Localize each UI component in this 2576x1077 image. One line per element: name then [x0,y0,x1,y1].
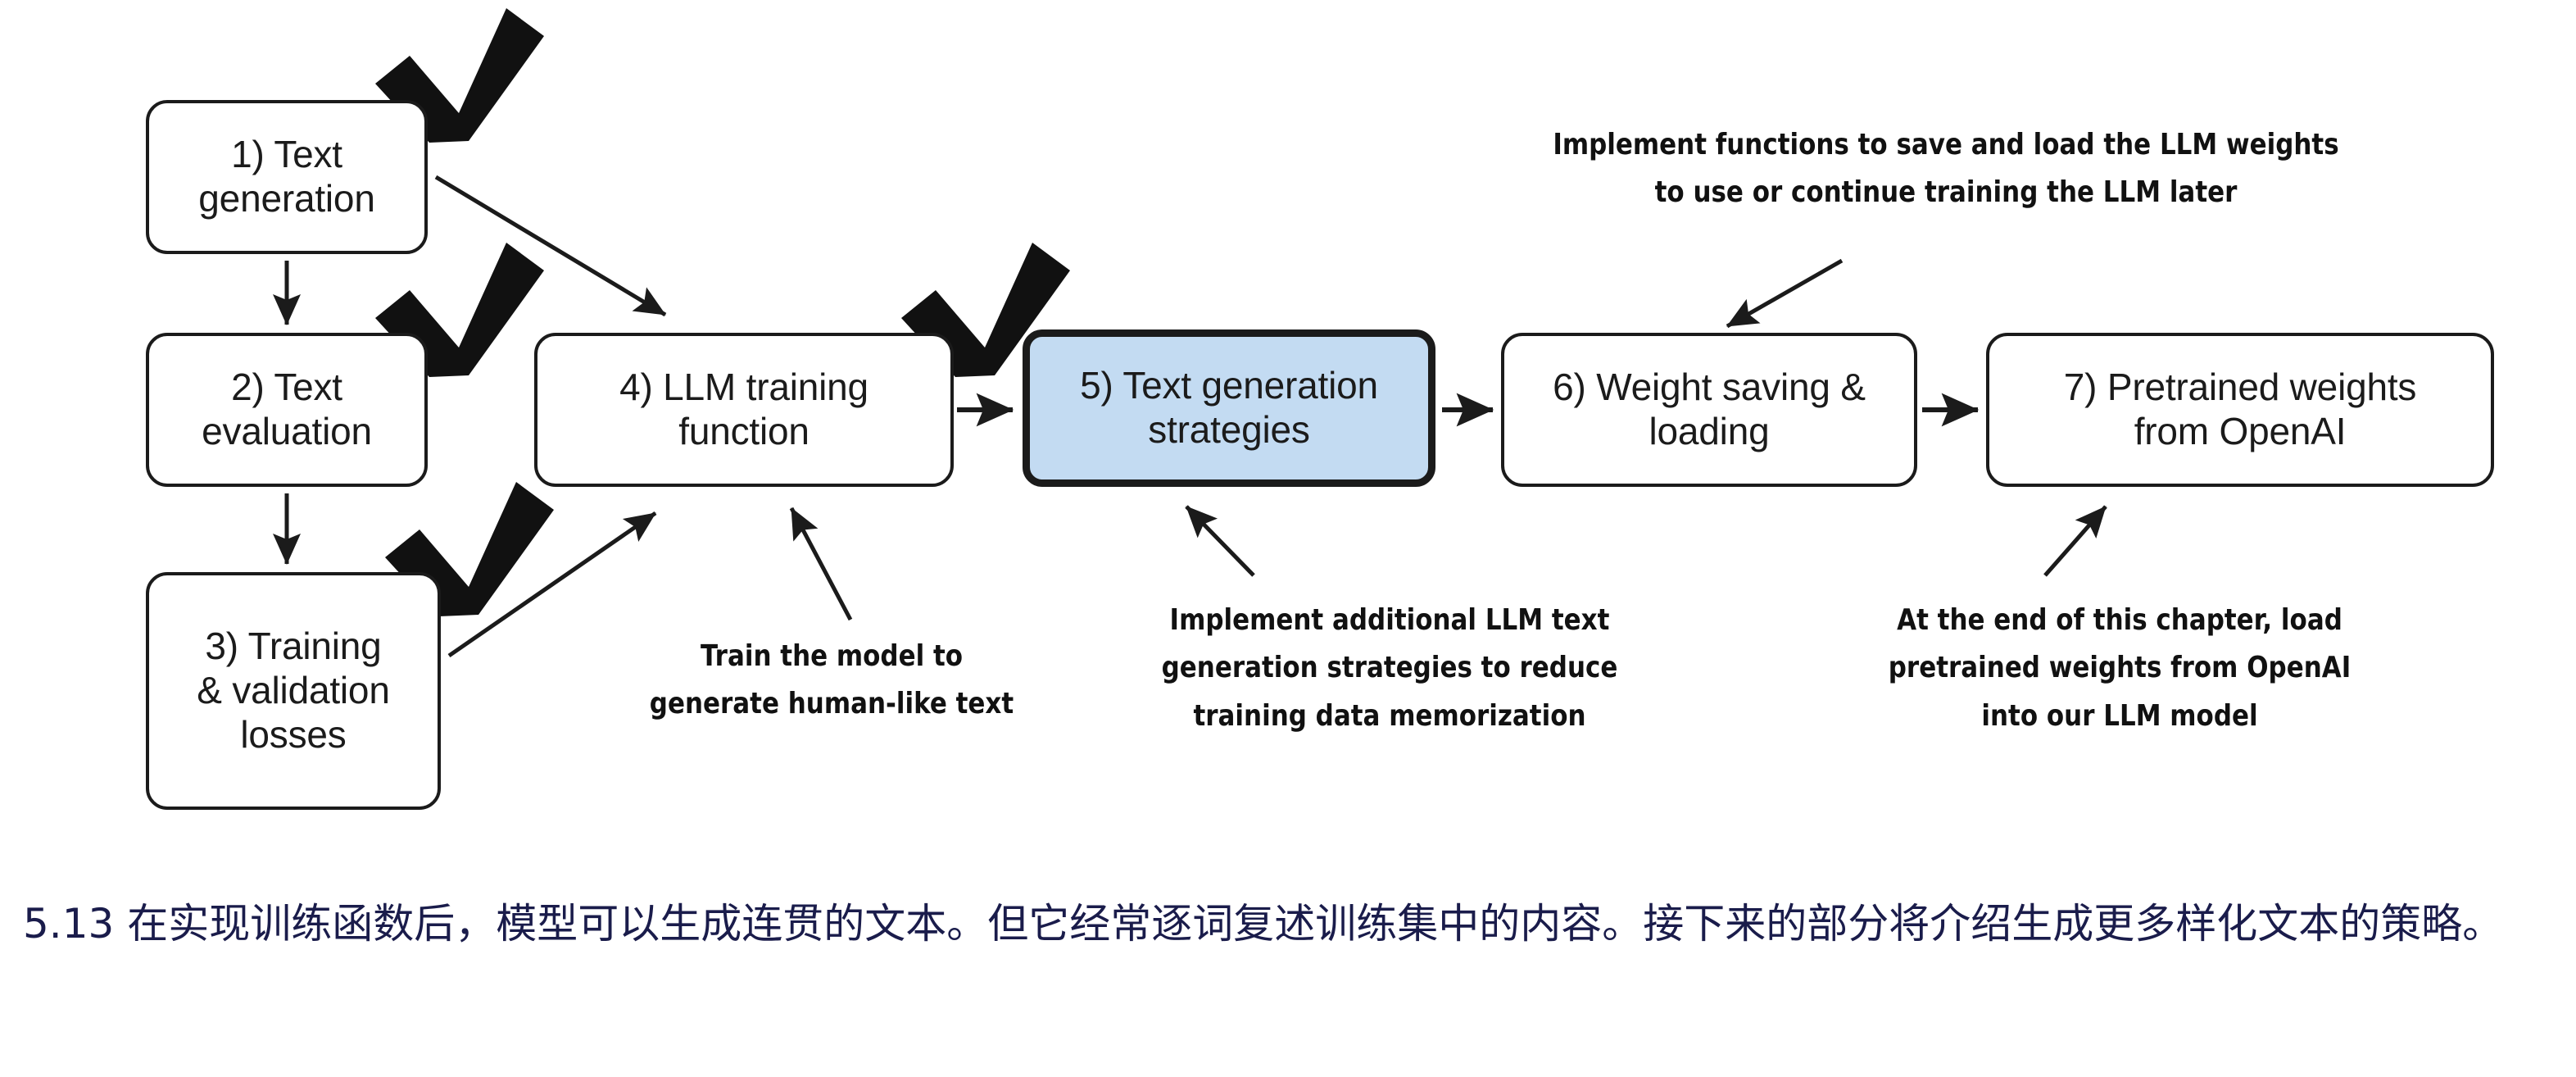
flow-box-text-evaluation[interactable]: 2) Text evaluation [146,333,428,487]
connector-1-to-4 [436,177,665,315]
leader-note-train-to-box-4 [791,508,850,620]
flow-box-text-generation[interactable]: 1) Text generation [146,100,428,254]
flowchart-diagram: 1) Text generation 2) Text evaluation 3)… [0,0,2576,852]
annotation-train-model: Train the model to generate human-like t… [610,633,1054,729]
annotation-weight-saving: Implement functions to save and load the… [1499,121,2393,217]
annotation-generation-strategies: Implement additional LLM text generation… [1129,597,1650,740]
leader-note-top-to-box-6 [1727,261,1842,326]
leader-note-gen-to-box-5 [1186,507,1254,575]
flow-box-text-generation-strategies[interactable]: 5) Text generation strategies [1023,329,1435,487]
annotation-openai-weights: At the end of this chapter, load pretrai… [1841,597,2397,740]
flow-box-training-validation-losses[interactable]: 3) Training & validation losses [146,572,441,810]
flow-box-pretrained-weights-openai[interactable]: 7) Pretrained weights from OpenAI [1986,333,2494,487]
leader-note-openai-to-box-7 [2045,507,2106,575]
flow-box-llm-training-function[interactable]: 4) LLM training function [534,333,954,487]
figure-caption: 5.13 在实现训练函数后，模型可以生成连贯的文本。但它经常逐词复述训练集中的内… [23,895,2560,953]
flow-box-weight-saving-loading[interactable]: 6) Weight saving & loading [1501,333,1917,487]
